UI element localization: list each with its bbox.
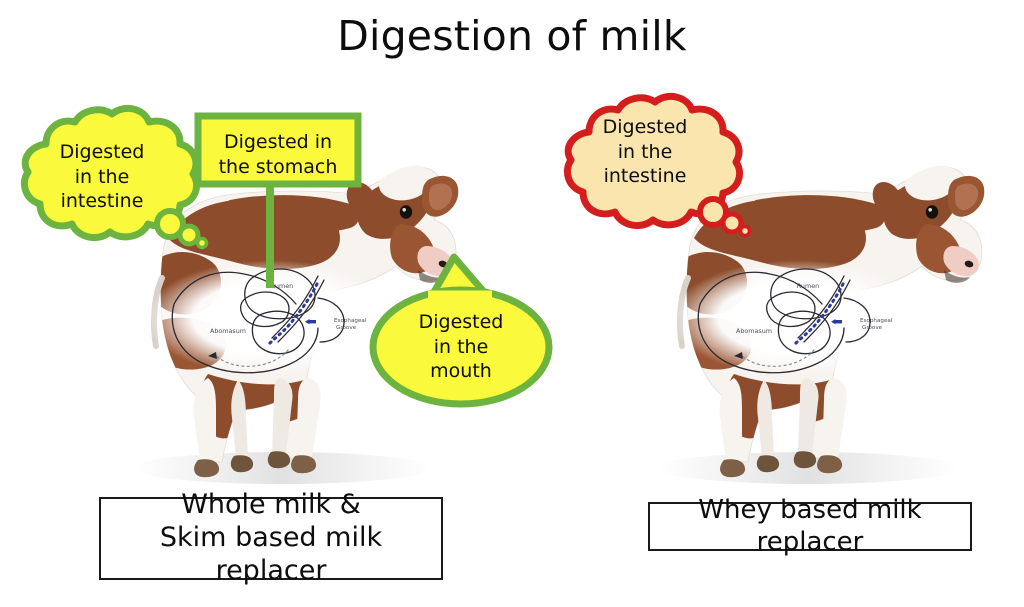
callout-stomach-left[interactable]	[194, 112, 362, 292]
svg-text:Esophageal: Esophageal	[334, 318, 367, 324]
caption-right: Whey based milk replacer	[648, 502, 972, 551]
svg-text:Esophageal: Esophageal	[860, 318, 893, 324]
oval-speech-shape	[373, 257, 549, 404]
thought-cloud-tail	[700, 199, 750, 236]
svg-text:Abomasum: Abomasum	[736, 327, 772, 335]
callout-intestine-left[interactable]	[2, 104, 217, 249]
caption-left: Whole milk & Skim based milk replacer	[99, 497, 443, 580]
page-title: Digestion of milk	[0, 12, 1024, 60]
callout-mouth-left[interactable]	[366, 235, 556, 410]
svg-text:Groove: Groove	[336, 325, 357, 331]
callout-intestine-right[interactable]	[545, 92, 760, 237]
callout-rect-shape	[198, 116, 358, 184]
svg-text:Rumen: Rumen	[797, 282, 819, 290]
svg-text:Groove: Groove	[862, 325, 883, 331]
svg-text:Abomasum: Abomasum	[210, 327, 246, 335]
diagram-canvas: Digestion of milk	[0, 0, 1024, 607]
